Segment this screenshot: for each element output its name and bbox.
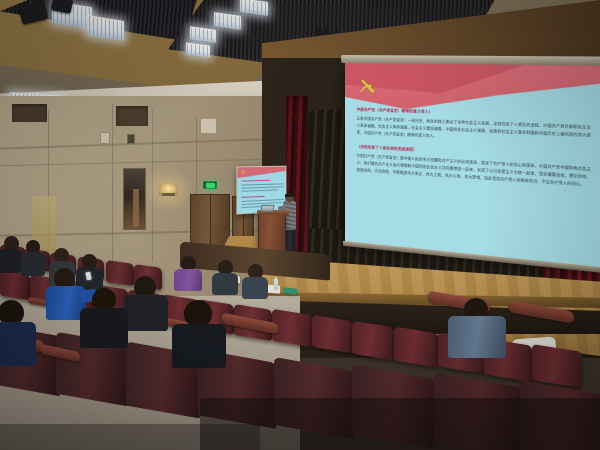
person-torso	[80, 308, 128, 348]
wall-control-panel	[127, 134, 135, 144]
slide-paragraph-1: 正是中国共产党（共产党宣言）一经问世，就在实践上推动了世界社会主义发展，深刻改变…	[357, 116, 591, 148]
person-torso	[448, 316, 506, 358]
person-torso	[0, 322, 36, 366]
person-torso	[21, 252, 45, 276]
auditorium-seat	[352, 321, 394, 361]
foreground-shadow	[200, 398, 600, 450]
auditorium-seat	[272, 309, 312, 347]
presenter-head	[285, 193, 294, 202]
wall-sconce-light	[159, 184, 178, 196]
side-slide-heading	[241, 180, 270, 182]
wall-panel-seam	[112, 104, 113, 262]
person-torso	[212, 273, 238, 295]
laptop	[261, 205, 275, 212]
presentation-slide: 中国共产党（共产党宣言）精神的意义传人） 正是中国共产党（共产党宣言）一经问世，…	[345, 63, 600, 267]
auditorium-seat	[106, 260, 134, 286]
wall-control-panel	[100, 132, 110, 144]
person-torso	[172, 324, 226, 368]
wall-speaker-box	[200, 118, 217, 134]
auditorium-seat	[312, 315, 352, 353]
water-bottle	[274, 279, 278, 290]
wall-window	[123, 168, 146, 230]
person-torso	[174, 269, 202, 291]
hammer-and-sickle-emblem	[356, 76, 378, 97]
person-torso	[242, 277, 268, 299]
auditorium-seat	[532, 344, 582, 388]
side-slide-text	[241, 189, 278, 192]
person-torso	[0, 249, 22, 273]
side-slide-heading	[241, 196, 264, 198]
person-torso	[124, 295, 168, 331]
person-head	[184, 300, 212, 327]
foreground-shadow	[0, 424, 260, 450]
wall-panel-seam	[152, 110, 153, 262]
wall-recess	[12, 104, 47, 122]
exit-sign	[203, 181, 217, 189]
projection-screen: 中国共产党（共产党宣言）精神的意义传人） 正是中国共产党（共产党宣言）一经问世，…	[345, 63, 600, 267]
slide-text-body: 中国共产党（共产党宣言）精神的意义传人） 正是中国共产党（共产党宣言）一经问世，…	[357, 107, 591, 198]
wall-recess	[116, 106, 148, 126]
auditorium-photo: 中国共产党（共产党宣言）精神的意义传人） 正是中国共产党（共产党宣言）一经问世，…	[0, 0, 600, 450]
hammer-and-sickle-emblem	[239, 168, 246, 175]
auditorium-seat	[394, 327, 438, 368]
